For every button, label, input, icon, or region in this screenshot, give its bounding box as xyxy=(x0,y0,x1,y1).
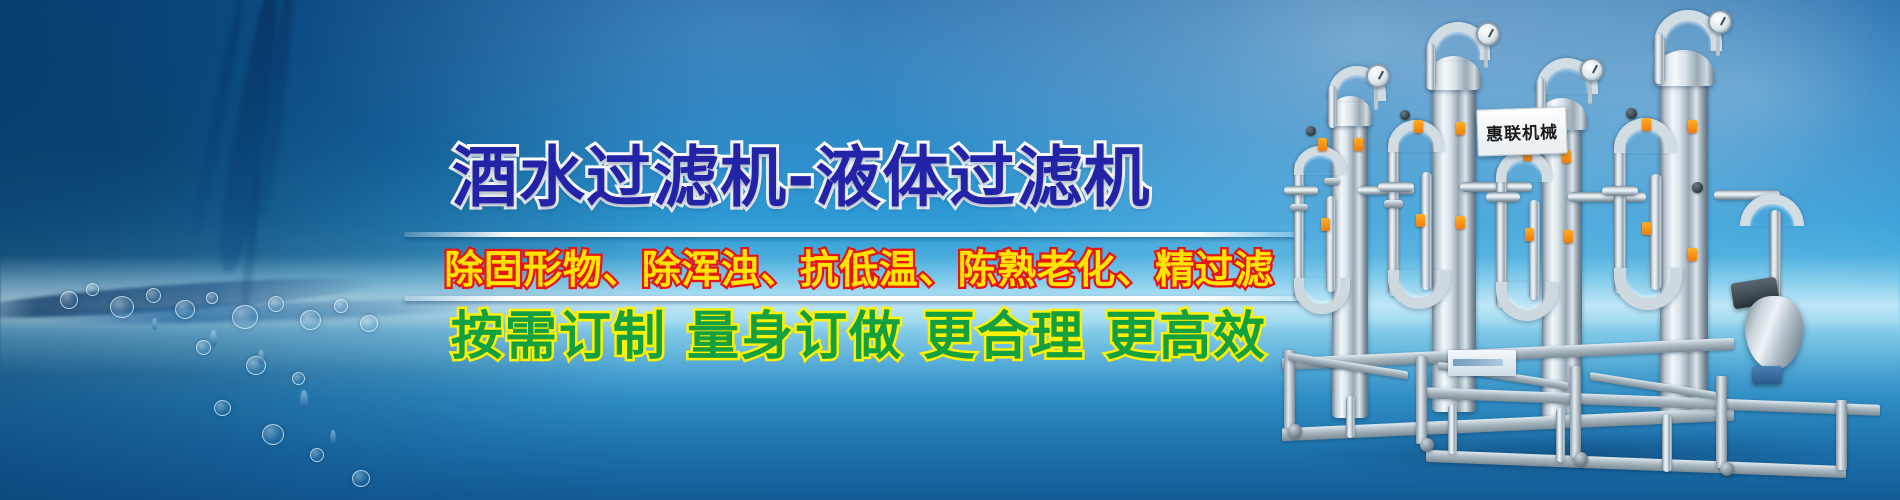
valve-handle xyxy=(1414,120,1423,133)
divider-top xyxy=(404,232,1304,237)
filter-machine-image xyxy=(1270,0,1900,500)
valve-knob xyxy=(1306,126,1316,136)
frame-leg xyxy=(1836,400,1847,470)
frame-foot xyxy=(1574,452,1588,466)
drain-pipe xyxy=(1662,414,1672,472)
side-branch-pipe xyxy=(1378,182,1414,192)
features-line: 除固形物、除浑浊、抗低温、陈熟老化、精过滤 xyxy=(404,248,1314,294)
valve-handle xyxy=(1416,214,1425,227)
riser-pipe xyxy=(1421,172,1432,290)
side-branch-pipe xyxy=(1486,192,1520,202)
banner-text-block: 酒水过滤机-液体过滤机 除固形物、除浑浊、抗低温、陈熟老化、精过滤 按需订制 量… xyxy=(0,0,1320,500)
valve-knob xyxy=(1400,110,1410,120)
valve-handle xyxy=(1642,222,1651,235)
page-title: 酒水过滤机-液体过滤机 xyxy=(452,140,1252,216)
valve-handle xyxy=(1318,138,1327,151)
valve-knob xyxy=(1692,182,1703,193)
valve-handle xyxy=(1354,138,1363,151)
pressure-gauge xyxy=(1476,22,1500,46)
side-branch-pipe xyxy=(1284,186,1318,195)
pump-base xyxy=(1752,366,1782,384)
valve-handle xyxy=(1525,228,1534,241)
valve-handle xyxy=(1564,230,1573,243)
pipe-flange xyxy=(1324,178,1340,185)
frame-foot xyxy=(1288,424,1302,438)
tagline: 按需订制 量身订做 更合理 更高效 xyxy=(404,306,1314,368)
drain-pipe xyxy=(1346,396,1355,438)
machine-brand-sign: 惠联机械 xyxy=(1476,106,1568,156)
pressure-gauge xyxy=(1708,10,1732,34)
frame-leg xyxy=(1284,350,1295,428)
frame-leg xyxy=(1416,356,1427,444)
inlet-pipe xyxy=(1328,86,1337,128)
frame-foot xyxy=(1720,462,1734,476)
drain-pipe xyxy=(1448,404,1457,454)
inlet-pipe xyxy=(1426,44,1436,90)
valve-knob xyxy=(1626,108,1637,119)
pipe-flange xyxy=(1384,200,1403,208)
riser-pipe xyxy=(1529,200,1540,300)
frame-foot xyxy=(1420,438,1434,452)
equipment-label-plate xyxy=(1448,350,1516,376)
frame-rail-front-lower xyxy=(1426,450,1846,478)
product-banner: 酒水过滤机-液体过滤机 除固形物、除浑浊、抗低温、陈熟老化、精过滤 按需订制 量… xyxy=(0,0,1900,500)
riser-pipe xyxy=(1650,174,1662,290)
valve-handle xyxy=(1688,248,1697,261)
frame-leg xyxy=(1570,366,1581,458)
valve-handle xyxy=(1688,120,1697,133)
divider-bottom xyxy=(404,296,1304,301)
drain-pipe xyxy=(1556,408,1565,462)
inlet-pipe xyxy=(1654,34,1665,84)
valve-handle xyxy=(1456,122,1465,135)
side-branch-pipe xyxy=(1602,186,1638,196)
valve-handle xyxy=(1642,118,1651,131)
pipe-flange xyxy=(1290,204,1308,211)
valve-handle xyxy=(1456,216,1465,229)
machine-brand-sign-text: 惠联机械 xyxy=(1486,118,1559,145)
valve-handle xyxy=(1321,218,1330,231)
riser-pipe xyxy=(1326,196,1336,292)
pressure-gauge xyxy=(1366,64,1390,88)
frame-leg xyxy=(1716,376,1727,468)
pressure-gauge xyxy=(1580,58,1604,82)
